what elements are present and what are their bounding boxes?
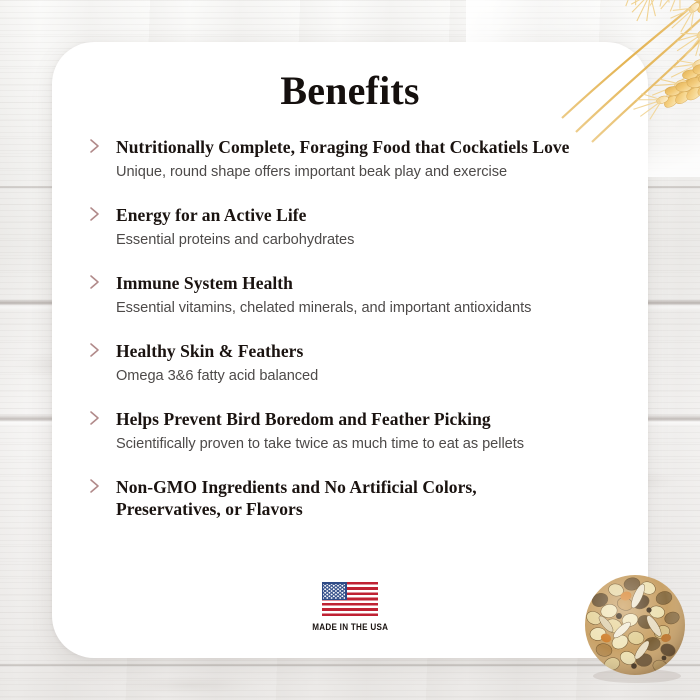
list-item: Immune System Health Essential vitamins,…: [86, 272, 614, 318]
list-item: Helps Prevent Bird Boredom and Feather P…: [86, 408, 614, 454]
benefit-heading: Energy for an Active Life: [116, 204, 614, 226]
wood-knot: [120, 676, 260, 694]
list-item: Non-GMO Ingredients and No Artificial Co…: [86, 476, 614, 520]
made-in-usa-label: MADE IN THE USA: [312, 622, 388, 632]
benefit-subtext: Omega 3&6 fatty acid balanced: [116, 367, 614, 386]
chevron-right-icon: [88, 273, 102, 291]
chevron-right-icon: [88, 409, 102, 427]
chevron-right-icon: [88, 477, 102, 495]
list-item: Energy for an Active Life Essential prot…: [86, 204, 614, 250]
wood-plank-seam: [0, 664, 700, 667]
page-title: Benefits: [86, 68, 614, 114]
chevron-right-icon: [88, 205, 102, 223]
list-item: Healthy Skin & Feathers Omega 3&6 fatty …: [86, 340, 614, 386]
made-in-usa-badge: MADE IN THE USA: [52, 582, 648, 632]
benefit-heading: Nutritionally Complete, Foraging Food th…: [116, 136, 614, 158]
benefit-heading: Helps Prevent Bird Boredom and Feather P…: [116, 408, 614, 430]
usa-flag-icon: [322, 582, 378, 616]
benefit-heading: Healthy Skin & Feathers: [116, 340, 614, 362]
benefit-subtext: Scientifically proven to take twice as m…: [116, 435, 614, 454]
chevron-right-icon: [88, 341, 102, 359]
benefit-subtext: Essential vitamins, chelated minerals, a…: [116, 299, 614, 318]
benefit-subtext: Unique, round shape offers important bea…: [116, 163, 614, 182]
flag-stars: [323, 584, 345, 599]
benefits-list: Nutritionally Complete, Foraging Food th…: [86, 136, 614, 520]
flag-canton: [322, 582, 347, 600]
chevron-right-icon: [88, 137, 102, 155]
benefit-subtext: Essential proteins and carbohydrates: [116, 231, 614, 250]
benefit-heading: Immune System Health: [116, 272, 614, 294]
product-benefits-infographic: Benefits Nutritionally Complete, Foragin…: [0, 0, 700, 700]
list-item: Nutritionally Complete, Foraging Food th…: [86, 136, 614, 182]
benefit-heading: Non-GMO Ingredients and No Artificial Co…: [116, 476, 556, 520]
card-content: Benefits Nutritionally Complete, Foragin…: [52, 42, 648, 658]
